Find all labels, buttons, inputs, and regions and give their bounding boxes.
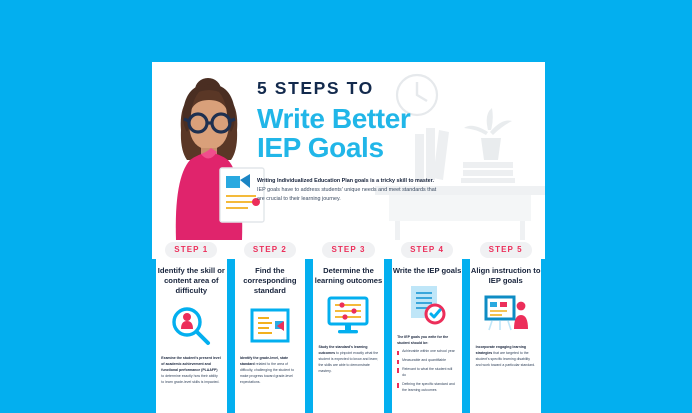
teacher-illustration bbox=[156, 68, 266, 240]
list-item: Relevant to what the student will do bbox=[397, 367, 457, 379]
infographic-header: 5 STEPS TO Write Better IEP Goals Writin… bbox=[152, 62, 545, 240]
step-column-5: STEP 5 Align instruction to IEP goals bbox=[466, 240, 545, 413]
step-badge-5: STEP 5 bbox=[480, 242, 532, 258]
step-body-rest-1: to determine exactly how their ability t… bbox=[161, 374, 219, 384]
step-badge-4: STEP 4 bbox=[401, 242, 453, 258]
title-line-2: IEP Goals bbox=[257, 132, 384, 163]
step-title-5: Align instruction to IEP goals bbox=[469, 266, 543, 286]
list-item: Measurable and quantifiable bbox=[397, 358, 457, 364]
step-column-4: STEP 4 Write the IEP goals bbox=[388, 240, 467, 413]
standards-document-icon bbox=[247, 304, 293, 348]
intro-paragraph: Writing Individualized Education Plan go… bbox=[257, 177, 439, 203]
step-body-2: Identify the grade-level, state standard… bbox=[240, 355, 300, 385]
whiteboard-teacher-icon bbox=[483, 293, 529, 337]
magnifying-glass-person-icon bbox=[168, 304, 214, 348]
title-line-1: Write Better bbox=[257, 103, 410, 134]
eyebrow-text: 5 STEPS TO bbox=[257, 80, 542, 98]
intro-rest: IEP goals have to address students' uniq… bbox=[257, 187, 436, 202]
step-badge-2: STEP 2 bbox=[244, 242, 296, 258]
infographic-canvas: 5 STEPS TO Write Better IEP Goals Writin… bbox=[0, 0, 692, 413]
list-item: Defining the specific standard and the l… bbox=[397, 382, 457, 394]
step-title-2: Find the corresponding standard bbox=[233, 266, 307, 297]
step-body-4: The IEP goals you write for the student … bbox=[397, 334, 457, 397]
step-4-bullet-list: Achievable within one school year Measur… bbox=[397, 349, 457, 394]
monitor-sliders-icon bbox=[325, 293, 371, 337]
header-text-block: 5 STEPS TO Write Better IEP Goals Writin… bbox=[257, 80, 542, 204]
step-title-1: Identify the skill or content area of di… bbox=[154, 266, 228, 297]
intro-bold: Writing Individualized Education Plan go… bbox=[257, 178, 434, 184]
step-column-1: STEP 1 Identify the skill or content are… bbox=[152, 240, 231, 413]
step-column-3: STEP 3 Determine the learning outcomes bbox=[309, 240, 388, 413]
step-title-4: Write the IEP goals bbox=[390, 266, 464, 276]
step-body-5: Incorporate engaging learning strategies… bbox=[476, 344, 536, 368]
step-body-bold-4: The IEP goals you write for the student … bbox=[397, 335, 448, 345]
step-badge-3: STEP 3 bbox=[322, 242, 374, 258]
steps-strip: STEP 1 Identify the skill or content are… bbox=[152, 240, 545, 413]
page-title: Write Better IEP Goals bbox=[257, 104, 542, 164]
step-badge-1: STEP 1 bbox=[165, 242, 217, 258]
infographic-page: 5 STEPS TO Write Better IEP Goals Writin… bbox=[152, 62, 545, 413]
step-column-2: STEP 2 Find the corresponding standard bbox=[231, 240, 310, 413]
step-body-1: Examine the student's present level of a… bbox=[161, 355, 221, 385]
document-check-icon bbox=[404, 283, 450, 327]
step-body-3: Study the standard's learning outcomes t… bbox=[318, 344, 378, 374]
list-item: Achievable within one school year bbox=[397, 349, 457, 355]
step-body-bold-1: Examine the student's present level of a… bbox=[161, 356, 220, 372]
step-title-3: Determine the learning outcomes bbox=[311, 266, 385, 286]
